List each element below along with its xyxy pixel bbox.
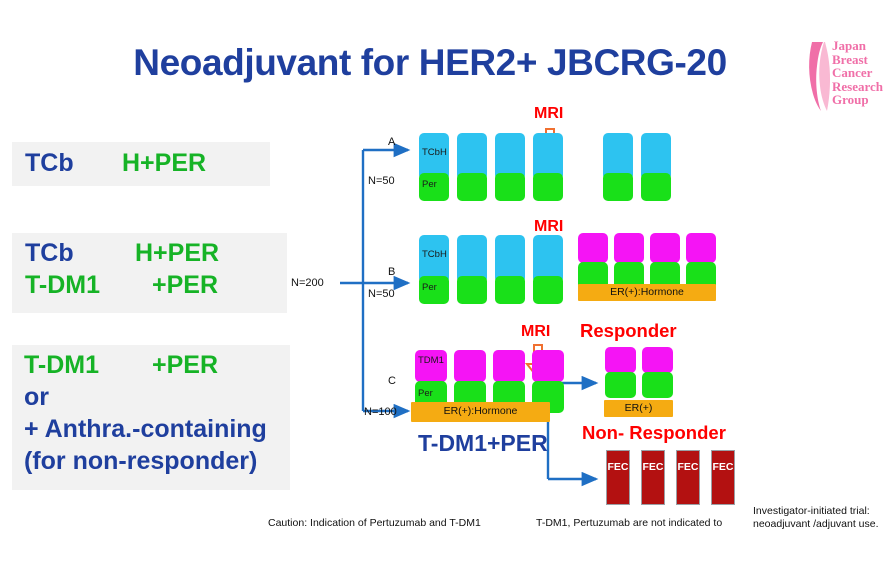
responder-label: Responder — [580, 320, 677, 342]
arm-b-post-cycle-2-tdm1 — [614, 233, 644, 263]
arm-c-hormone-bar: ER(+):Hormone — [411, 402, 550, 422]
fec-label-2: FEC — [642, 462, 664, 473]
regimen-c-note: (for non-responder) — [24, 447, 257, 476]
arm-b-post-cycle-1-tdm1 — [578, 233, 608, 263]
fec-label-1: FEC — [607, 462, 629, 473]
arm-b-post-cycle-3-tdm1 — [650, 233, 680, 263]
arm-c-cycle-2-tdm1 — [454, 350, 486, 382]
regimen-box-arm-b: TCb H+PER T-DM1 +PER — [12, 233, 287, 313]
non-responder-cycle-3-fec: FEC — [676, 450, 700, 505]
arm-c-enrollment: N=100 — [364, 406, 397, 418]
regimen-c-drug: T-DM1 — [24, 351, 99, 380]
logo-line-5: Group — [832, 92, 869, 107]
regimen-box-arm-c: T-DM1 +PER or + Anthra.-containing (for … — [12, 345, 290, 490]
non-responder-cycle-2-fec: FEC — [641, 450, 665, 505]
arm-b-per-label: Per — [422, 282, 437, 293]
arm-b-cycle-4-per — [533, 276, 563, 304]
logo-text: Japan Breast Cancer Research Group — [832, 40, 888, 108]
regimen-c-therapy: +PER — [152, 351, 218, 380]
arm-b-enrollment: N=50 — [368, 288, 395, 300]
regimen-c-or: or — [24, 383, 49, 412]
arm-a-cycle-2-per — [457, 173, 487, 201]
regimen-a-therapy: H+PER — [122, 149, 206, 178]
arm-b-cycle-3-per — [495, 276, 525, 304]
non-responder-cycle-4-fec: FEC — [711, 450, 735, 505]
arm-a-post-cycle-2-per — [641, 173, 671, 201]
regimen-b-drug-2: T-DM1 — [25, 271, 100, 300]
arm-c-hormone-label: ER(+):Hormone — [411, 406, 550, 417]
arm-c-letter: C — [388, 375, 396, 387]
arm-a-mri-label: MRI — [534, 105, 563, 123]
total-enrollment: N=200 — [291, 277, 324, 289]
arm-c-tdm1-label: TDM1 — [418, 355, 444, 366]
responder-hormone-bar: ER(+) — [604, 400, 673, 417]
regimen-c-alternative: + Anthra.-containing — [24, 415, 267, 444]
arm-c-caption: T-DM1+PER — [418, 430, 548, 457]
arm-c-cycle-3-tdm1 — [493, 350, 525, 382]
arm-c-mri-label: MRI — [521, 323, 550, 341]
jbcrg-logo: Japan Breast Cancer Research Group — [806, 38, 886, 114]
fec-label-4: FEC — [712, 462, 734, 473]
arm-a-tcbh-label: TCbH — [422, 147, 447, 158]
non-responder-label: Non- Responder — [582, 422, 726, 444]
arm-b-tcbh-label: TCbH — [422, 249, 447, 260]
arm-b-hormone-label: ER(+):Hormone — [578, 287, 716, 298]
regimen-b-therapy-2: +PER — [152, 271, 218, 300]
regimen-box-arm-a: TCb H+PER — [12, 142, 270, 186]
regimen-b-drug-1: TCb — [25, 239, 74, 268]
non-responder-cycle-1-fec: FEC — [606, 450, 630, 505]
arm-c-cycle-1-tdm1: TDM1 — [415, 350, 447, 382]
pink-ribbon-icon — [806, 40, 832, 112]
arm-c-cycle-4-tdm1 — [532, 350, 564, 382]
arm-a-letter: A — [388, 136, 395, 148]
arm-b-hormone-bar: ER(+):Hormone — [578, 284, 716, 301]
regimen-a-drug: TCb — [25, 149, 74, 178]
responder-cycle-1-tdm1 — [605, 347, 636, 373]
arm-a-post-cycle-1-per — [603, 173, 633, 201]
arm-c-per-label: Per — [418, 388, 433, 399]
footnote-caution: Caution: Indication of Pertuzumab and T-… — [268, 517, 481, 529]
slide-canvas: Neoadjuvant for HER2+ JBCRG-20 Japan Bre… — [0, 0, 891, 572]
arm-a-enrollment: N=50 — [368, 175, 395, 187]
fec-label-3: FEC — [677, 462, 699, 473]
regimen-b-therapy-1: H+PER — [135, 239, 219, 268]
arm-b-cycle-2-per — [457, 276, 487, 304]
arm-b-letter: B — [388, 266, 395, 278]
responder-hormone-label: ER(+) — [604, 403, 673, 414]
responder-cycle-2-per — [642, 372, 673, 398]
arm-b-post-cycle-4-tdm1 — [686, 233, 716, 263]
arm-a-cycle-3-per — [495, 173, 525, 201]
footnote-indication: T-DM1, Pertuzumab are not indicated to — [536, 517, 722, 529]
arm-a-per-label: Per — [422, 179, 437, 190]
responder-cycle-2-tdm1 — [642, 347, 673, 373]
arm-a-cycle-4-per — [533, 173, 563, 201]
arm-a-cycle-1-per: Per — [419, 173, 449, 201]
responder-cycle-1-per — [605, 372, 636, 398]
footnote-trial: Investigator-initiated trial: neoadjuvan… — [753, 505, 891, 531]
arm-b-mri-label: MRI — [534, 218, 563, 236]
page-title: Neoadjuvant for HER2+ JBCRG-20 — [70, 42, 790, 84]
arm-b-cycle-1-per: Per — [419, 276, 449, 304]
